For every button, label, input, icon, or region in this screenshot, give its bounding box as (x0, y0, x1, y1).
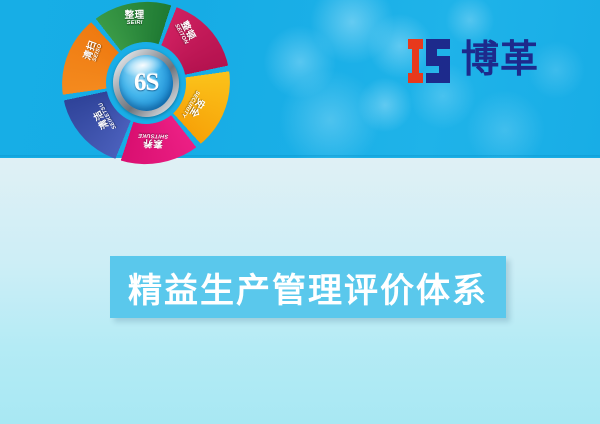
six-s-wheel-graphic: 整理 SEIRI 整顿 SEITON 安全 SECURITY 素养 SHITSU… (49, 0, 243, 177)
wheel-center-label: 6S (134, 69, 158, 97)
wheel-center-sphere: 6S (115, 51, 178, 116)
slide-canvas: 整理 SEIRI 整顿 SEITON 安全 SECURITY 素养 SHITSU… (0, 0, 600, 424)
page-title: 精益生产管理评价体系 (128, 263, 488, 312)
brand-name: 博革 (461, 41, 539, 79)
bg-monogram-icon (406, 37, 452, 84)
title-banner: 精益生产管理评价体系 (110, 256, 506, 318)
brand-logo: 博革 (406, 30, 556, 90)
